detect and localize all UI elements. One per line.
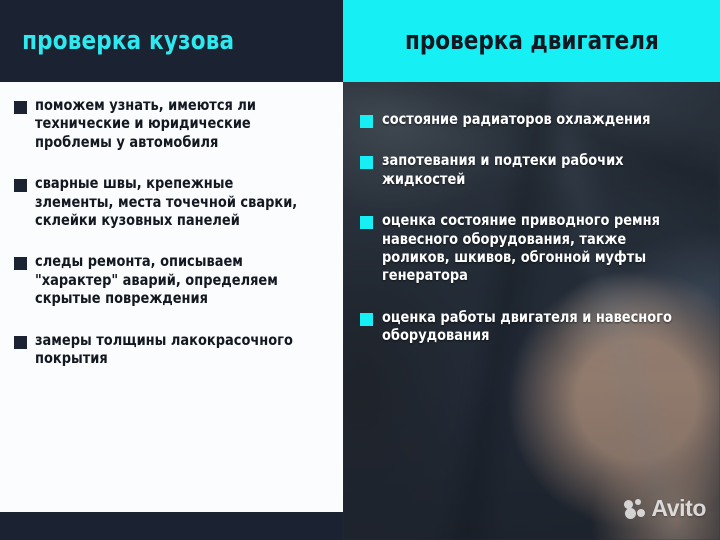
left-bullet-text-1: поможем узнать, имеются ли технические и… — [35, 96, 314, 151]
right-bullet-text-4: оценка работы двигателя и навесного обор… — [382, 308, 694, 345]
list-item: оценка работы двигателя и навесного обор… — [343, 308, 720, 345]
list-item: состояние радиаторов охлаждения — [343, 110, 720, 128]
square-bullet-icon — [360, 115, 373, 128]
square-bullet-icon — [14, 336, 27, 349]
right-header-banner: проверка двигателя — [343, 0, 720, 82]
list-item: следы ремонта, описываем "характер" авар… — [0, 252, 343, 307]
square-bullet-icon — [14, 101, 27, 114]
left-column: проверка кузова поможем узнать, имеются … — [0, 0, 343, 540]
poster-root: проверка кузова поможем узнать, имеются … — [0, 0, 720, 540]
list-item: оценка состояние приводного ремня навесн… — [343, 211, 720, 285]
avito-watermark: Avito — [624, 495, 706, 522]
square-bullet-icon — [360, 156, 373, 169]
right-header-title: проверка двигателя — [405, 26, 659, 56]
left-header-title: проверка кузова — [0, 26, 234, 56]
left-bullet-text-2: сварные швы, крепежные злементы, места т… — [35, 174, 314, 229]
avito-dots-icon — [624, 499, 646, 519]
square-bullet-icon — [360, 313, 373, 326]
left-bullet-text-3: следы ремонта, описываем "характер" авар… — [35, 252, 314, 307]
list-item: замеры толщины лакокрасочного покрытия — [0, 331, 343, 368]
right-bullet-text-1: состояние радиаторов охлаждения — [382, 110, 694, 128]
list-item: поможем узнать, имеются ли технические и… — [0, 96, 343, 151]
left-bullet-text-4: замеры толщины лакокрасочного покрытия — [35, 331, 314, 368]
right-bullet-list: состояние радиаторов охлаждения запотева… — [343, 110, 720, 368]
right-bullet-text-2: запотевания и подтеки рабочих жидкостей — [382, 151, 694, 188]
left-footer-strip — [0, 512, 343, 540]
square-bullet-icon — [360, 216, 373, 229]
list-item: сварные швы, крепежные злементы, места т… — [0, 174, 343, 229]
right-column: проверка двигателя состояние радиаторов … — [343, 0, 720, 540]
square-bullet-icon — [14, 179, 27, 192]
avito-wordmark: Avito — [651, 495, 706, 522]
left-bullet-list: поможем узнать, имеются ли технические и… — [0, 96, 343, 390]
list-item: запотевания и подтеки рабочих жидкостей — [343, 151, 720, 188]
square-bullet-icon — [14, 257, 27, 270]
left-header-banner: проверка кузова — [0, 0, 343, 82]
right-bullet-text-3: оценка состояние приводного ремня навесн… — [382, 211, 694, 285]
